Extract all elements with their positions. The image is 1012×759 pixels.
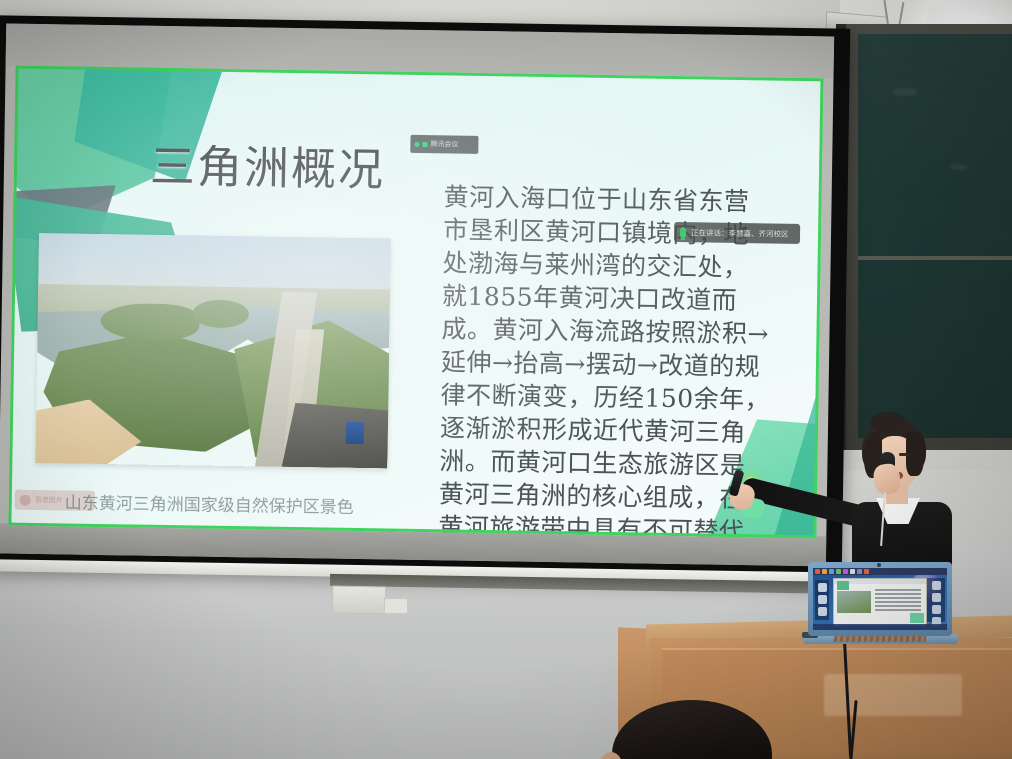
presenter-hair-bun	[870, 412, 906, 434]
microphone-icon	[680, 227, 686, 238]
dock-icon-e[interactable]	[932, 593, 941, 602]
watermark-logo-icon	[20, 494, 31, 505]
laptop-taskbar[interactable]	[813, 624, 947, 630]
slide-photo-caption: 山东黄河三角洲国家级自然保护区景色	[65, 488, 354, 518]
laptop-lid	[808, 562, 952, 636]
window-slide-decoration	[837, 581, 849, 590]
projection-screen-frame: 三角洲概况	[0, 15, 850, 580]
tencent-meeting-icon-square	[422, 142, 427, 147]
menubar-icon-3[interactable]	[829, 569, 834, 574]
menubar-icon-4[interactable]	[836, 569, 841, 574]
window-slide-text-lines	[875, 589, 921, 591]
chalk-smudge	[950, 164, 968, 170]
presenter-laptop[interactable]	[808, 562, 958, 642]
watermark-label: 百度图片	[35, 495, 63, 505]
laptop-slide-window[interactable]	[833, 578, 927, 626]
presenter	[836, 418, 956, 578]
presentation-slide[interactable]: 三角洲概况	[8, 66, 823, 539]
dock-icon-c[interactable]	[818, 607, 827, 616]
window-slide-decoration-2	[910, 613, 924, 623]
laptop-webcam-icon	[877, 563, 881, 567]
projection-screen-surface: 三角洲概况	[0, 23, 834, 566]
tencent-meeting-icon	[414, 141, 419, 146]
presenter-eye-right	[899, 453, 908, 456]
meeting-app-badge[interactable]: 腾讯会议	[410, 135, 478, 154]
dock-icon-b[interactable]	[818, 595, 827, 604]
laptop-right-dock[interactable]	[927, 578, 945, 622]
laptop-screen[interactable]	[813, 568, 947, 630]
laptop-keyboard[interactable]	[834, 636, 927, 642]
photo-haze-overlay	[35, 233, 391, 469]
screen-mount-bracket	[332, 586, 386, 615]
lecture-hall-scene: 三角洲概况	[0, 0, 1012, 759]
laptop-left-dock[interactable]	[815, 580, 829, 620]
blackboard	[858, 34, 1012, 438]
slide-title: 三角洲概况	[150, 144, 451, 194]
menubar-icon-5[interactable]	[843, 569, 848, 574]
blackboard-divider	[858, 256, 1012, 260]
menubar-icon-1[interactable]	[815, 569, 820, 574]
slide-photo	[35, 233, 391, 469]
menubar-icon-2[interactable]	[822, 569, 827, 574]
screen-mount-bracket-small	[384, 598, 408, 614]
menubar-icon-6[interactable]	[850, 569, 855, 574]
menubar-icon-8[interactable]	[864, 569, 869, 574]
dock-icon-a[interactable]	[818, 583, 827, 592]
laptop-menubar[interactable]	[813, 568, 947, 575]
dock-icon-d[interactable]	[932, 581, 941, 590]
window-slide-photo	[837, 591, 871, 613]
meeting-app-label: 腾讯会议	[430, 139, 458, 149]
speaking-now-toast: 正在讲话：李慧嘉、齐河校区	[674, 222, 800, 244]
speaking-now-label: 正在讲话：李慧嘉、齐河校区	[691, 227, 789, 240]
menubar-icon-7[interactable]	[857, 569, 862, 574]
dock-icon-f[interactable]	[932, 605, 941, 614]
chalk-smudge	[892, 88, 918, 96]
